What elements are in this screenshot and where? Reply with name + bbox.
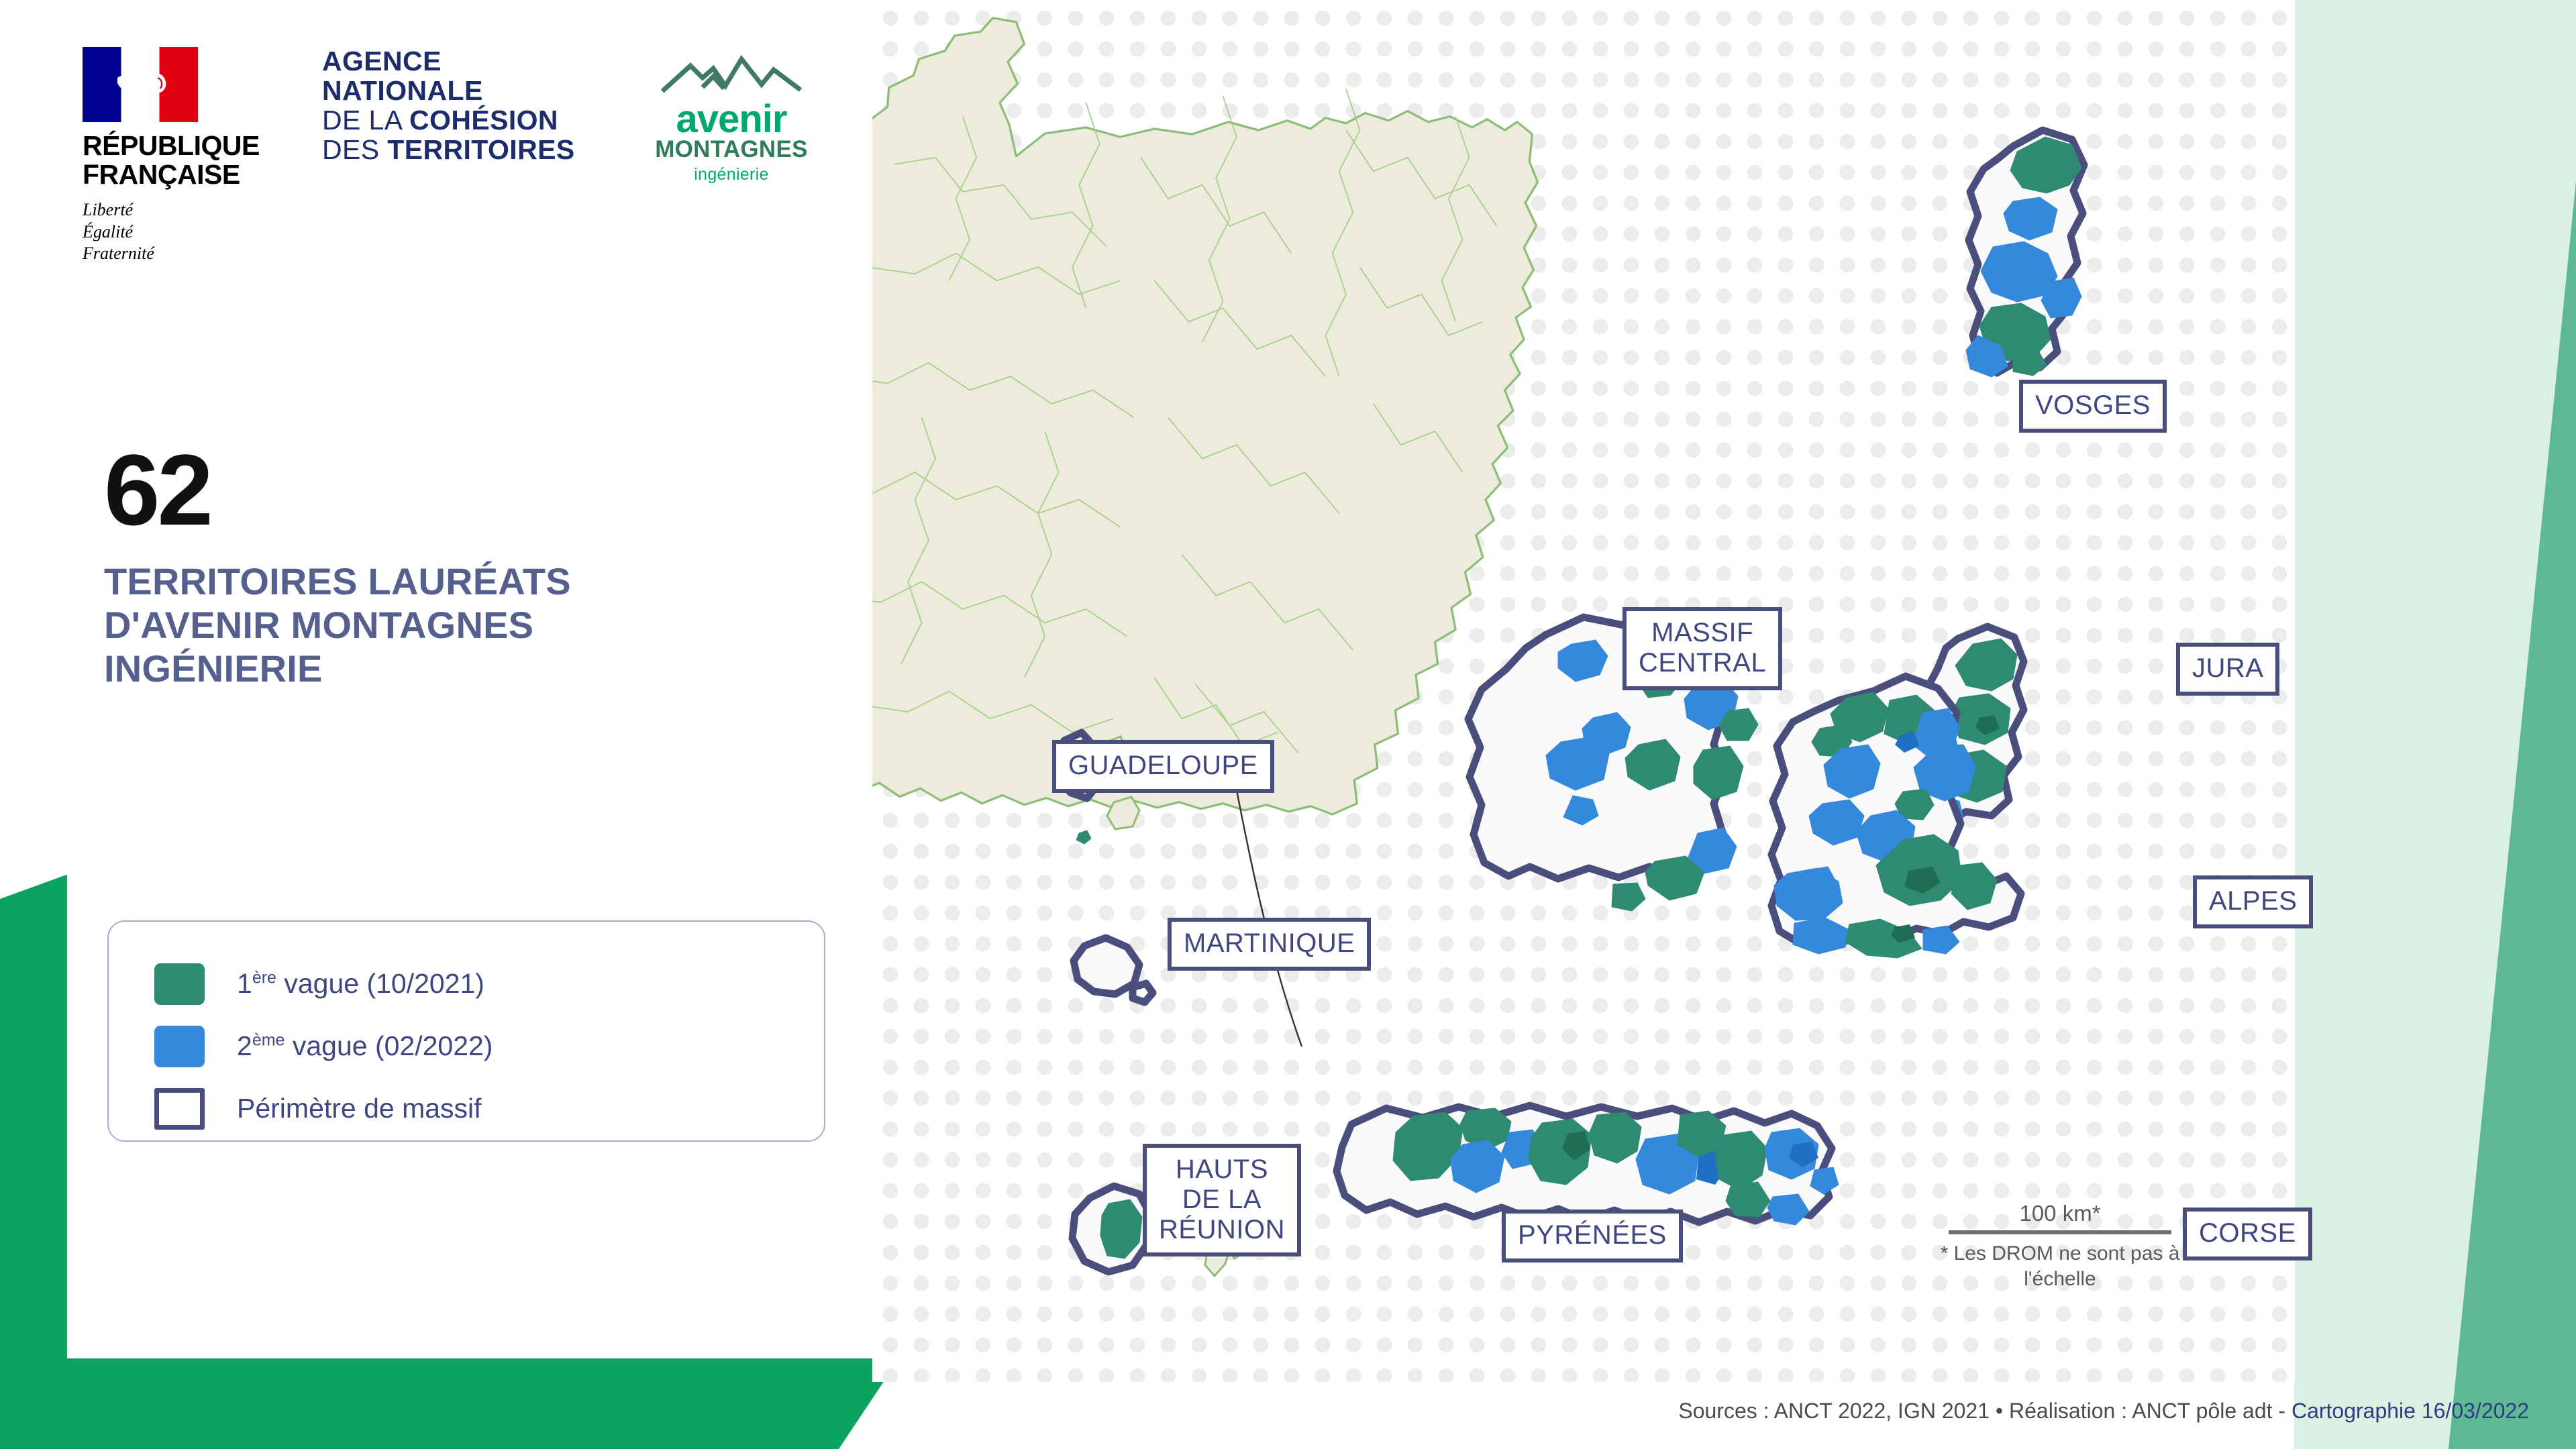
legend-item-wave2: 2ème vague (02/2022) xyxy=(154,1015,824,1077)
title-line-1: TERRITOIRES LAURÉATS xyxy=(104,560,708,604)
bottom-green-band xyxy=(0,1358,939,1449)
french-flag-marianne-icon xyxy=(83,47,198,122)
map-label-jura: JURA xyxy=(2176,643,2279,696)
laureate-count: 62 xyxy=(104,439,708,540)
legend-label-wave1: 1ère vague (10/2021) xyxy=(237,968,484,1000)
map-label-hauts-de-la-reunion: HAUTS DE LA RÉUNION xyxy=(1143,1144,1301,1256)
title-block: 62 TERRITOIRES LAURÉATS D'AVENIR MONTAGN… xyxy=(104,439,708,691)
footer-sources: Sources : ANCT 2022, IGN 2021 • Réalisat… xyxy=(1678,1399,2291,1423)
scale-distance: 100 km* xyxy=(1933,1201,2187,1226)
map-scale: 100 km* * Les DROM ne sont pas à l'échel… xyxy=(1933,1201,2187,1291)
montagnes-wordmark: MONTAGNES xyxy=(644,138,819,162)
legend-label-perimeter: Périmètre de massif xyxy=(237,1093,482,1124)
map-canvas[interactable]: .land{fill:#EDEBDC;stroke:#8CBE78;stroke… xyxy=(872,0,2295,1382)
map-label-pyrenees: PYRÉNÉES xyxy=(1502,1210,1683,1263)
anct-line-1: AGENCE xyxy=(322,47,604,76)
legend-item-wave1: 1ère vague (10/2021) xyxy=(154,953,824,1015)
anct-logo: AGENCE NATIONALE DE LA COHÉSION DES TERR… xyxy=(322,47,604,164)
republique-francaise-logo: RÉPUBLIQUE FRANÇAISE Liberté Égalité Fra… xyxy=(77,47,278,265)
scale-bar xyxy=(1949,1230,2171,1234)
legend-swatch-perimeter xyxy=(154,1088,205,1130)
map-label-alpes: ALPES xyxy=(2193,875,2313,928)
map-legend: 1ère vague (10/2021) 2ème vague (02/2022… xyxy=(107,920,825,1142)
header-logos: RÉPUBLIQUE FRANÇAISE Liberté Égalité Fra… xyxy=(77,47,819,265)
scale-note: * Les DROM ne sont pas à l'échelle xyxy=(1933,1241,2187,1291)
title-line-3: INGÉNIERIE xyxy=(104,647,708,691)
mountains-icon xyxy=(661,50,802,99)
avenir-wordmark: avenir xyxy=(644,101,819,138)
legend-swatch-wave1 xyxy=(154,963,205,1005)
rf-motto: Liberté Égalité Fraternité xyxy=(83,199,278,265)
legend-label-wave2: 2ème vague (02/2022) xyxy=(237,1030,493,1062)
footer-cartography: Cartographie 16/03/2022 xyxy=(2291,1399,2529,1423)
rf-name: RÉPUBLIQUE FRANÇAISE xyxy=(83,131,278,189)
title-line-2: D'AVENIR MONTAGNES xyxy=(104,604,708,647)
right-edge-green-triangle xyxy=(2294,0,2576,1449)
anct-line-2: NATIONALE xyxy=(322,76,604,106)
map-label-martinique: MARTINIQUE xyxy=(1168,918,1371,971)
page-title: TERRITOIRES LAURÉATS D'AVENIR MONTAGNES … xyxy=(104,560,708,691)
map-label-guadeloupe: GUADELOUPE xyxy=(1052,740,1274,793)
anct-line-3: DE LA COHÉSION xyxy=(322,106,604,136)
legend-item-perimeter: Périmètre de massif xyxy=(154,1077,824,1140)
ingenierie-wordmark: ingénierie xyxy=(644,165,819,184)
france-map-svg: .land{fill:#EDEBDC;stroke:#8CBE78;stroke… xyxy=(872,0,2295,1382)
avenir-montagnes-logo: avenir MONTAGNES ingénierie xyxy=(644,47,819,184)
anct-line-4: DES TERRITOIRES xyxy=(322,136,604,165)
source-footer: Sources : ANCT 2022, IGN 2021 • Réalisat… xyxy=(1678,1399,2529,1424)
map-label-massif-central: MASSIF CENTRAL xyxy=(1622,607,1782,690)
legend-swatch-wave2 xyxy=(154,1026,205,1067)
map-label-vosges: VOSGES xyxy=(2019,380,2167,433)
map-label-corse: CORSE xyxy=(2183,1207,2312,1260)
